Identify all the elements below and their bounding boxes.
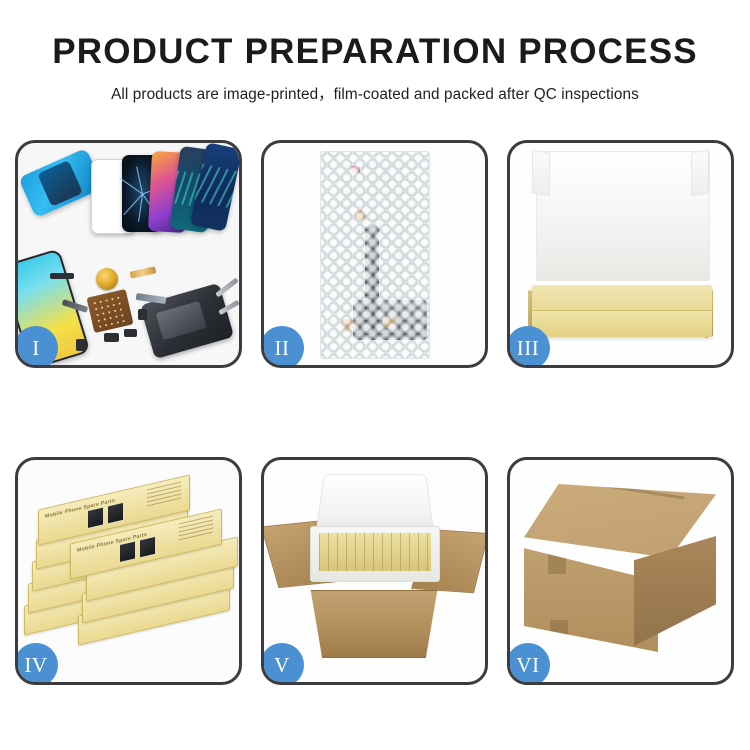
chip-part [124,329,137,337]
page-title: PRODUCT PREPARATION PROCESS [0,34,750,71]
box-tray-front [532,310,712,337]
screen-thumbnail [107,502,124,525]
screw-mat-part [86,289,133,333]
steps-grid: I II [15,140,735,685]
flex-cable-part [130,266,157,278]
screen-thumbnail [139,536,156,559]
product-preparation-infographic: PRODUCT PREPARATION PROCESS All products… [0,0,750,750]
box-lid-back-panel [536,151,710,281]
copper-coil-part [96,268,118,290]
step-badge-1: I [15,326,58,368]
step-badge-2: II [261,326,304,368]
carton-tape-seam [574,480,684,500]
bubble-texture-offset [321,152,429,358]
page-subtitle: All products are image-printed，film-coat… [0,82,750,104]
step-panel-3: III [507,140,734,368]
chip-part [76,339,86,351]
step-panel-6: VI [507,457,734,685]
box-stack: Mobile Phone Spare Parts Mobile Phone Sp… [20,470,239,670]
chip-part [104,333,119,342]
screen-thumbnail [87,506,104,529]
step-panel-5: V [261,457,488,685]
carton-flap-tab [550,620,568,640]
header: PRODUCT PREPARATION PROCESS All products… [0,0,750,104]
bubble-wrap-bag [320,151,430,359]
step-panel-2: II [261,140,488,368]
step-panel-4: Mobile Phone Spare Parts Mobile Phone Sp… [15,457,242,685]
carton-flap-tab [548,554,566,574]
chip-part [138,309,147,320]
foam-box-tray [310,526,440,582]
step-badge-3: III [507,326,550,368]
box-lid-flap-left [532,149,550,196]
yellow-box-tray [532,285,712,337]
step-badge-6: VI [507,643,550,685]
carton-body [302,590,446,658]
box-lid-flap-right [691,149,709,196]
step-panel-1: I [15,140,242,368]
chip-part [50,273,74,279]
yellow-boxes-inside [319,533,431,571]
step-badge-5: V [261,643,304,685]
sealed-carton [524,484,716,660]
step-badge-4: IV [15,643,58,685]
screen-thumbnail [119,540,136,563]
